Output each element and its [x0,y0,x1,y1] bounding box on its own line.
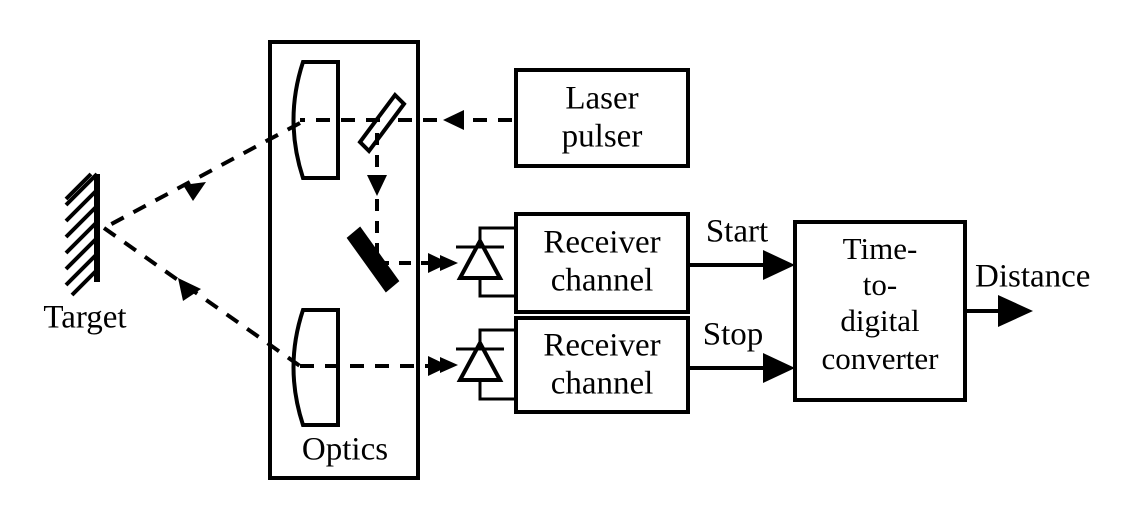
optics-label: Optics [302,432,388,468]
receiver-bottom-label-line2: channel [551,366,654,402]
folding-mirror-icon [348,228,398,291]
stop-signal-label: Stop [703,317,764,353]
distance-output-label: Distance [975,259,1090,295]
beam-splitter-icon [360,95,404,151]
tdc-label-line1: Time- [843,231,918,266]
target-label: Target [43,300,126,336]
target-hatching [66,174,97,295]
receiver-bottom-label-line1: Receiver [543,328,660,364]
start-signal-arrow [688,250,795,280]
stop-signal-arrow [688,353,795,383]
laser-pulser-label-line2: pulser [562,119,643,155]
diagram-canvas: Target Optics [0,0,1123,527]
receiver-top-label-line2: channel [551,263,654,299]
receiver-top-label-line1: Receiver [543,225,660,261]
distance-output-arrow [965,295,1033,327]
photodiode-stop [440,330,516,399]
start-signal-label: Start [706,214,768,250]
laser-pulser-label-line1: Laser [565,81,638,117]
tdc-label-line4: converter [821,341,939,376]
beam-laser-to-splitter [393,110,512,130]
tdc-label-line3: digital [840,303,919,338]
photodiode-start [440,228,516,296]
tdc-label-line2: to- [863,267,897,302]
rangefinder-diagram: Target Optics [0,0,1123,527]
target-wall [66,174,97,295]
